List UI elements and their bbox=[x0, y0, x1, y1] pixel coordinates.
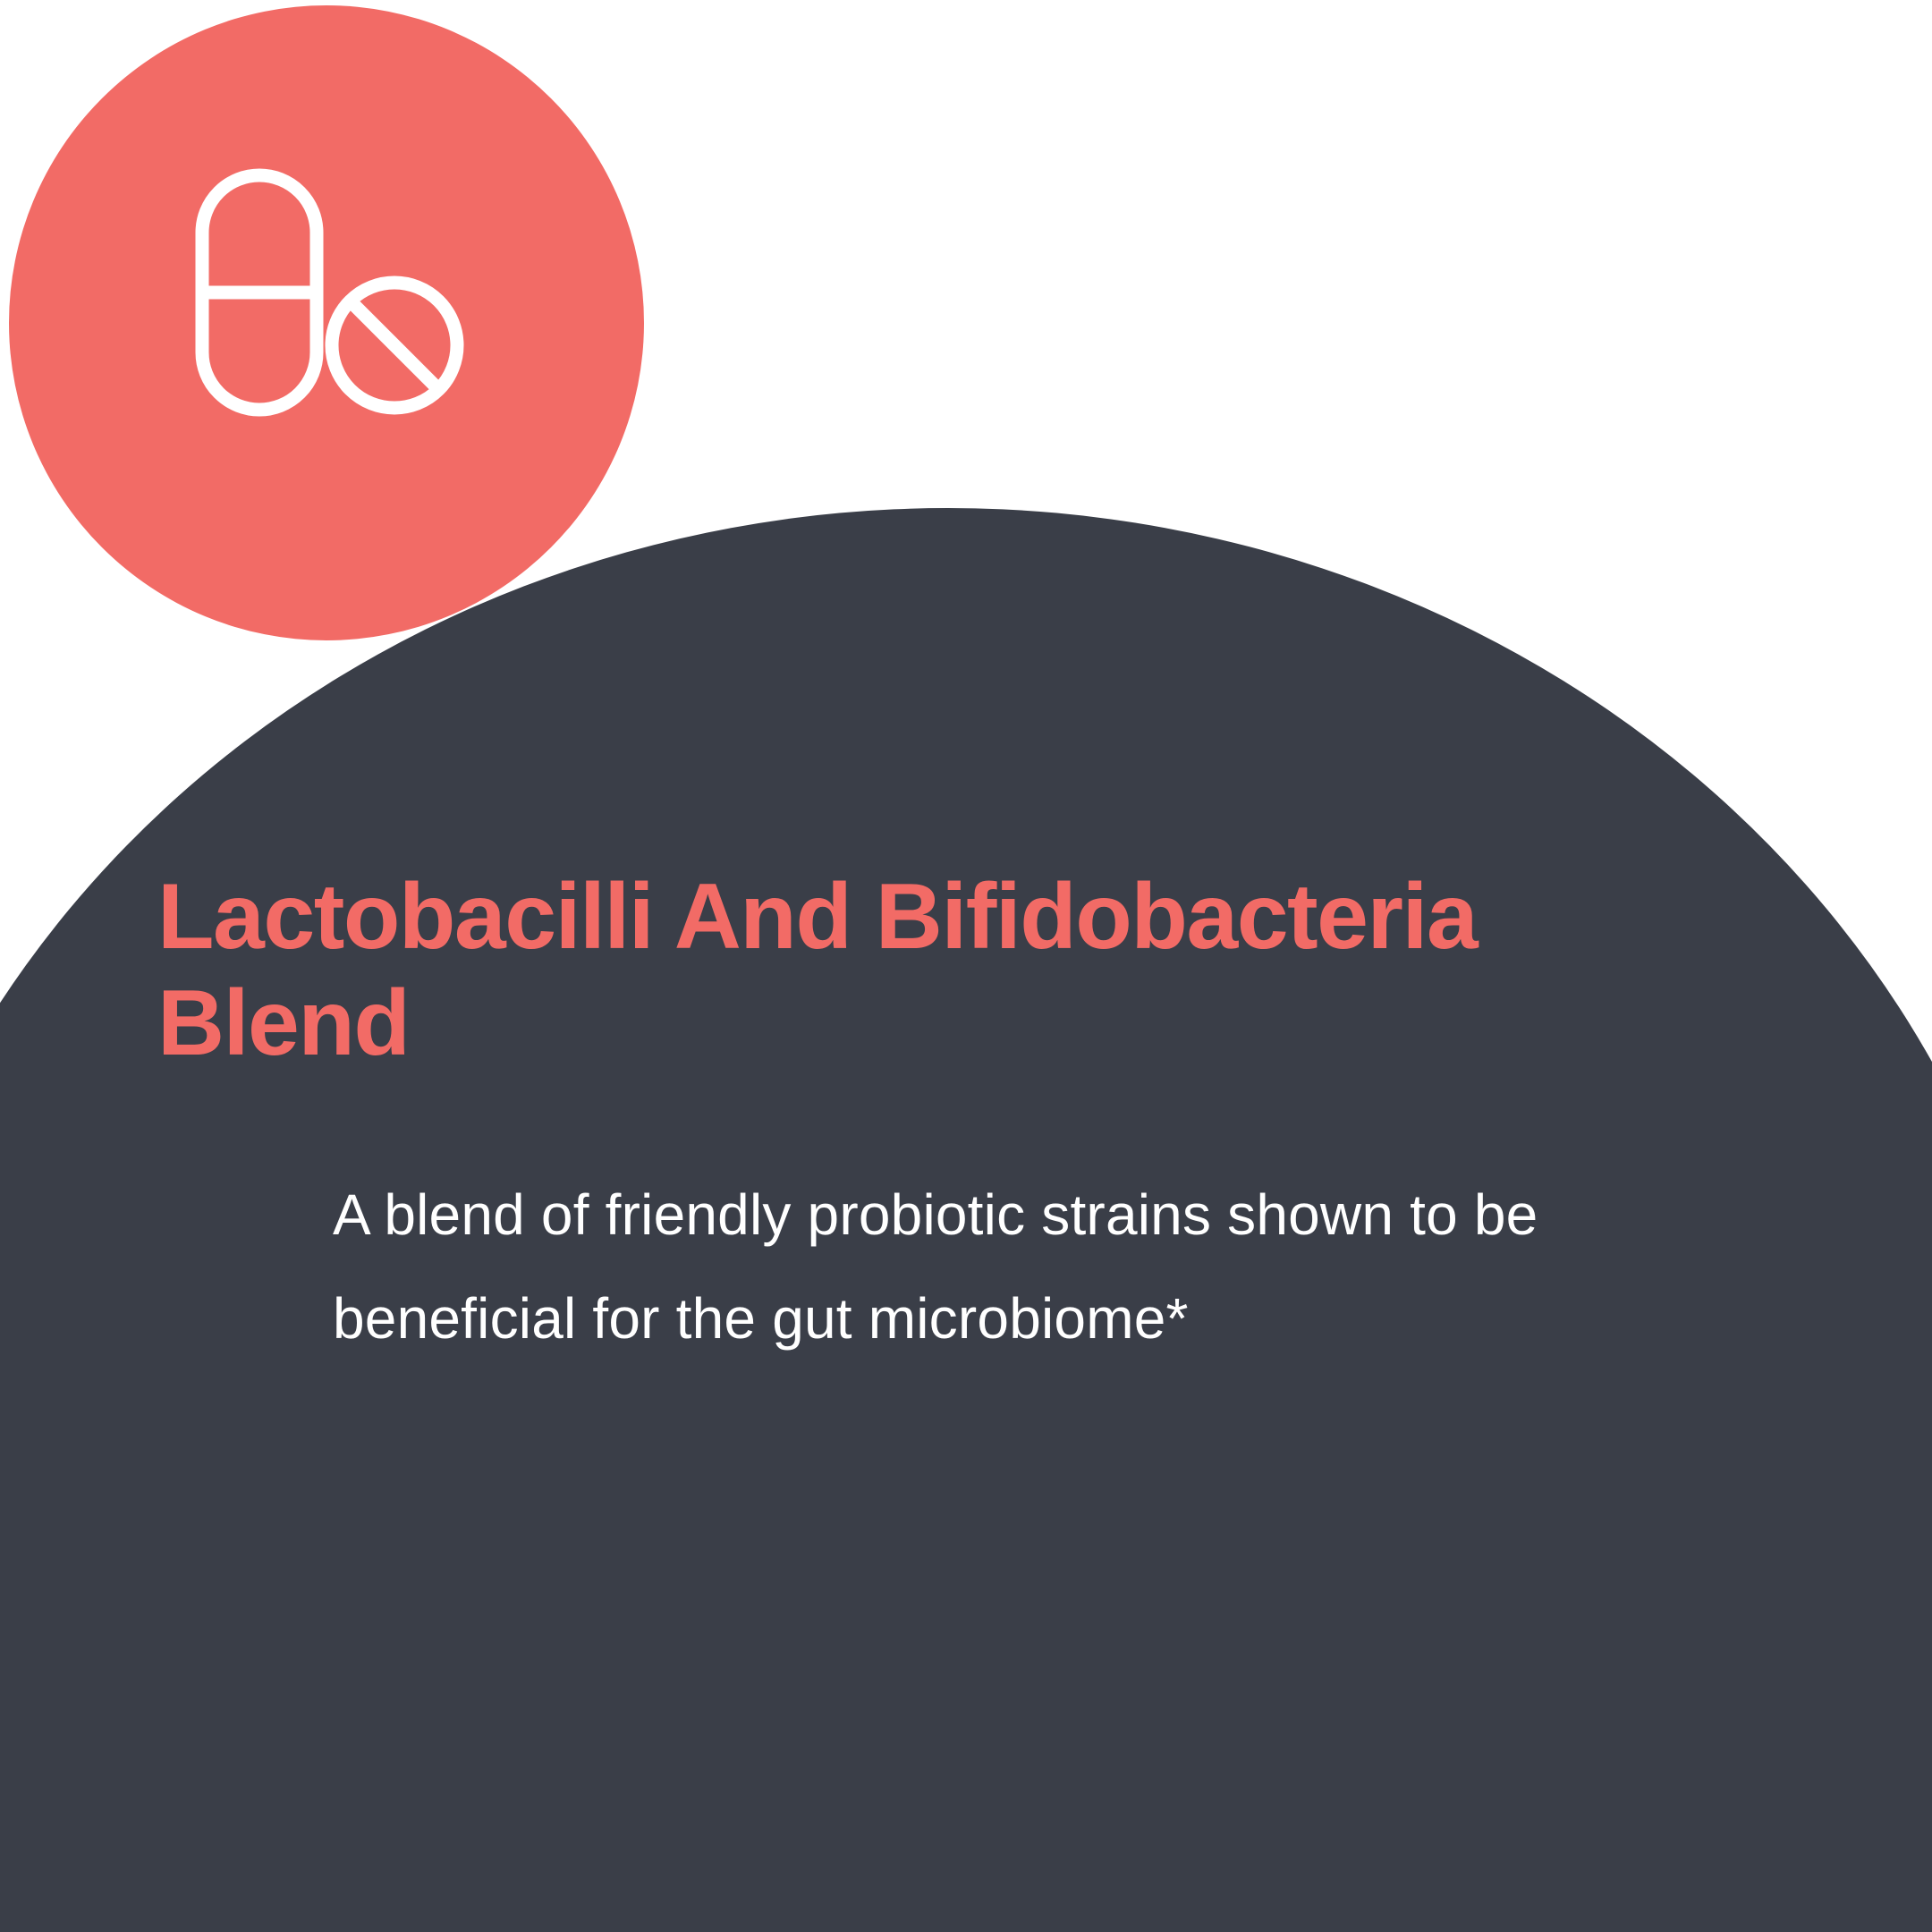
pills-icon bbox=[184, 163, 470, 431]
icon-badge bbox=[9, 5, 644, 640]
round-tablet-pill bbox=[332, 283, 457, 408]
capsule-pill bbox=[202, 175, 317, 410]
card-description: A blend of friendly probiotic strains sh… bbox=[333, 1163, 1549, 1371]
page-title: Lactobacilli And Bifidobacteria Blend bbox=[157, 864, 1499, 1076]
product-benefit-card: Lactobacilli And Bifidobacteria Blend A … bbox=[0, 0, 1932, 1932]
